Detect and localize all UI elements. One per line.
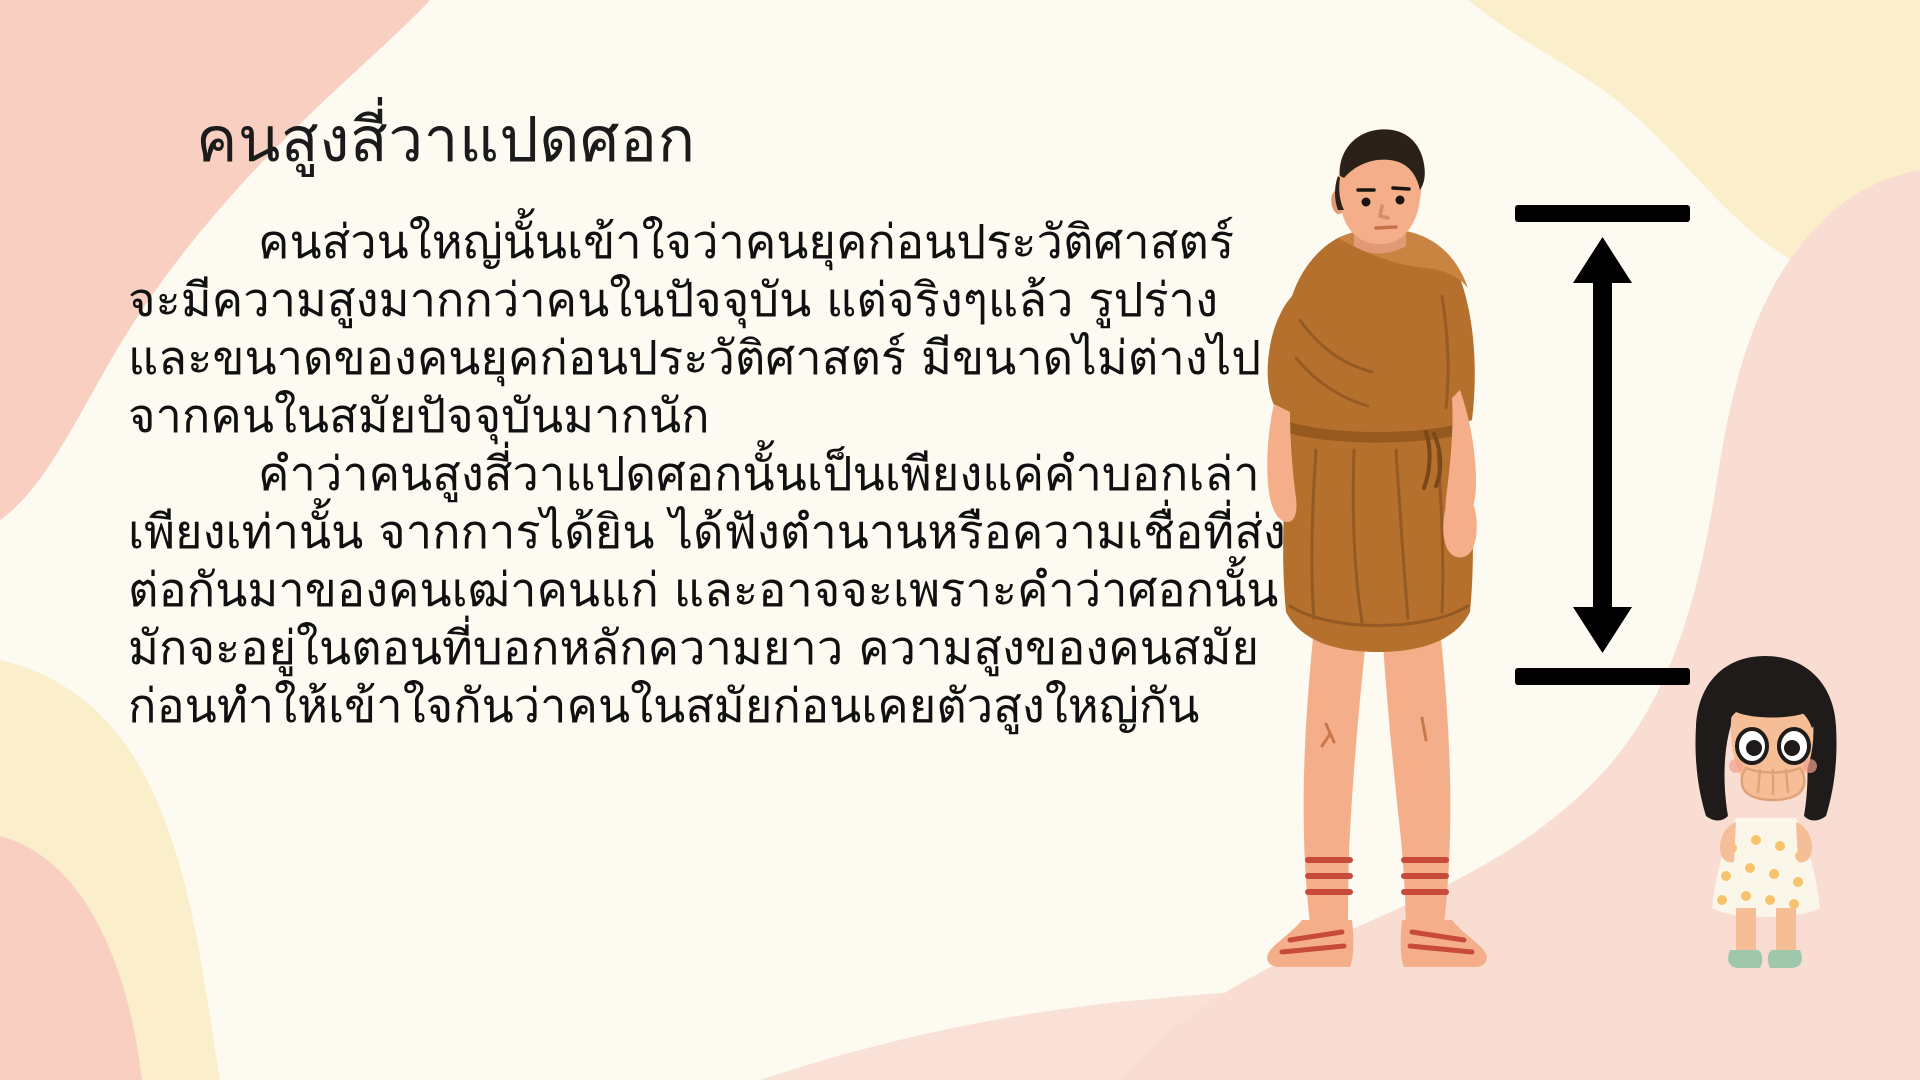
girl-pupil-left xyxy=(1746,740,1762,756)
girl-arm-left xyxy=(1720,822,1736,862)
small-girl-illustration xyxy=(1670,650,1860,980)
girl-shoe-left xyxy=(1728,950,1762,968)
arrow-shaft xyxy=(1593,257,1612,633)
man-eye-left xyxy=(1362,198,1371,207)
girl-arm-right xyxy=(1796,822,1812,862)
man-hand-right xyxy=(1443,506,1477,558)
man-sandal-right xyxy=(1401,920,1487,967)
presentation-slide: คนสูงสี่วาแปดศอก คนส่วนใหญ่นั้นเข้าใจว่า… xyxy=(0,0,1920,1080)
girl-shoe-right xyxy=(1768,950,1802,968)
height-measure-arrow xyxy=(1515,205,1690,685)
arrow-head-down xyxy=(1573,607,1632,653)
paragraph-2: คำว่าคนสูงสี่วาแปดศอกนั้นเป็นเพียงแค่คำบ… xyxy=(128,446,1288,736)
girl-leg-right xyxy=(1776,908,1796,954)
arrow-top-cap-bar xyxy=(1515,205,1690,222)
man-sandal-left xyxy=(1267,920,1353,967)
man-eyebrow-right xyxy=(1393,188,1409,189)
arrow-bottom-cap-bar xyxy=(1515,668,1690,685)
paragraph-1: คนส่วนใหญ่นั้นเข้าใจว่าคนยุคก่อนประวัติศ… xyxy=(128,214,1288,446)
girl-cheek-right xyxy=(1803,759,1817,773)
girl-leg-left xyxy=(1736,908,1756,954)
man-mouth xyxy=(1376,227,1396,228)
girl-pupil-right xyxy=(1784,740,1800,756)
prehistoric-man-illustration xyxy=(1230,120,1520,970)
body-text-block: คนส่วนใหญ่นั้นเข้าใจว่าคนยุคก่อนประวัติศ… xyxy=(128,214,1288,736)
page-title: คนสูงสี่วาแปดศอก xyxy=(196,104,696,175)
arrow-head-up xyxy=(1573,237,1632,283)
girl-cheek-left xyxy=(1729,759,1743,773)
man-sleeve-left xyxy=(1268,296,1292,420)
man-eye-right xyxy=(1396,196,1405,205)
